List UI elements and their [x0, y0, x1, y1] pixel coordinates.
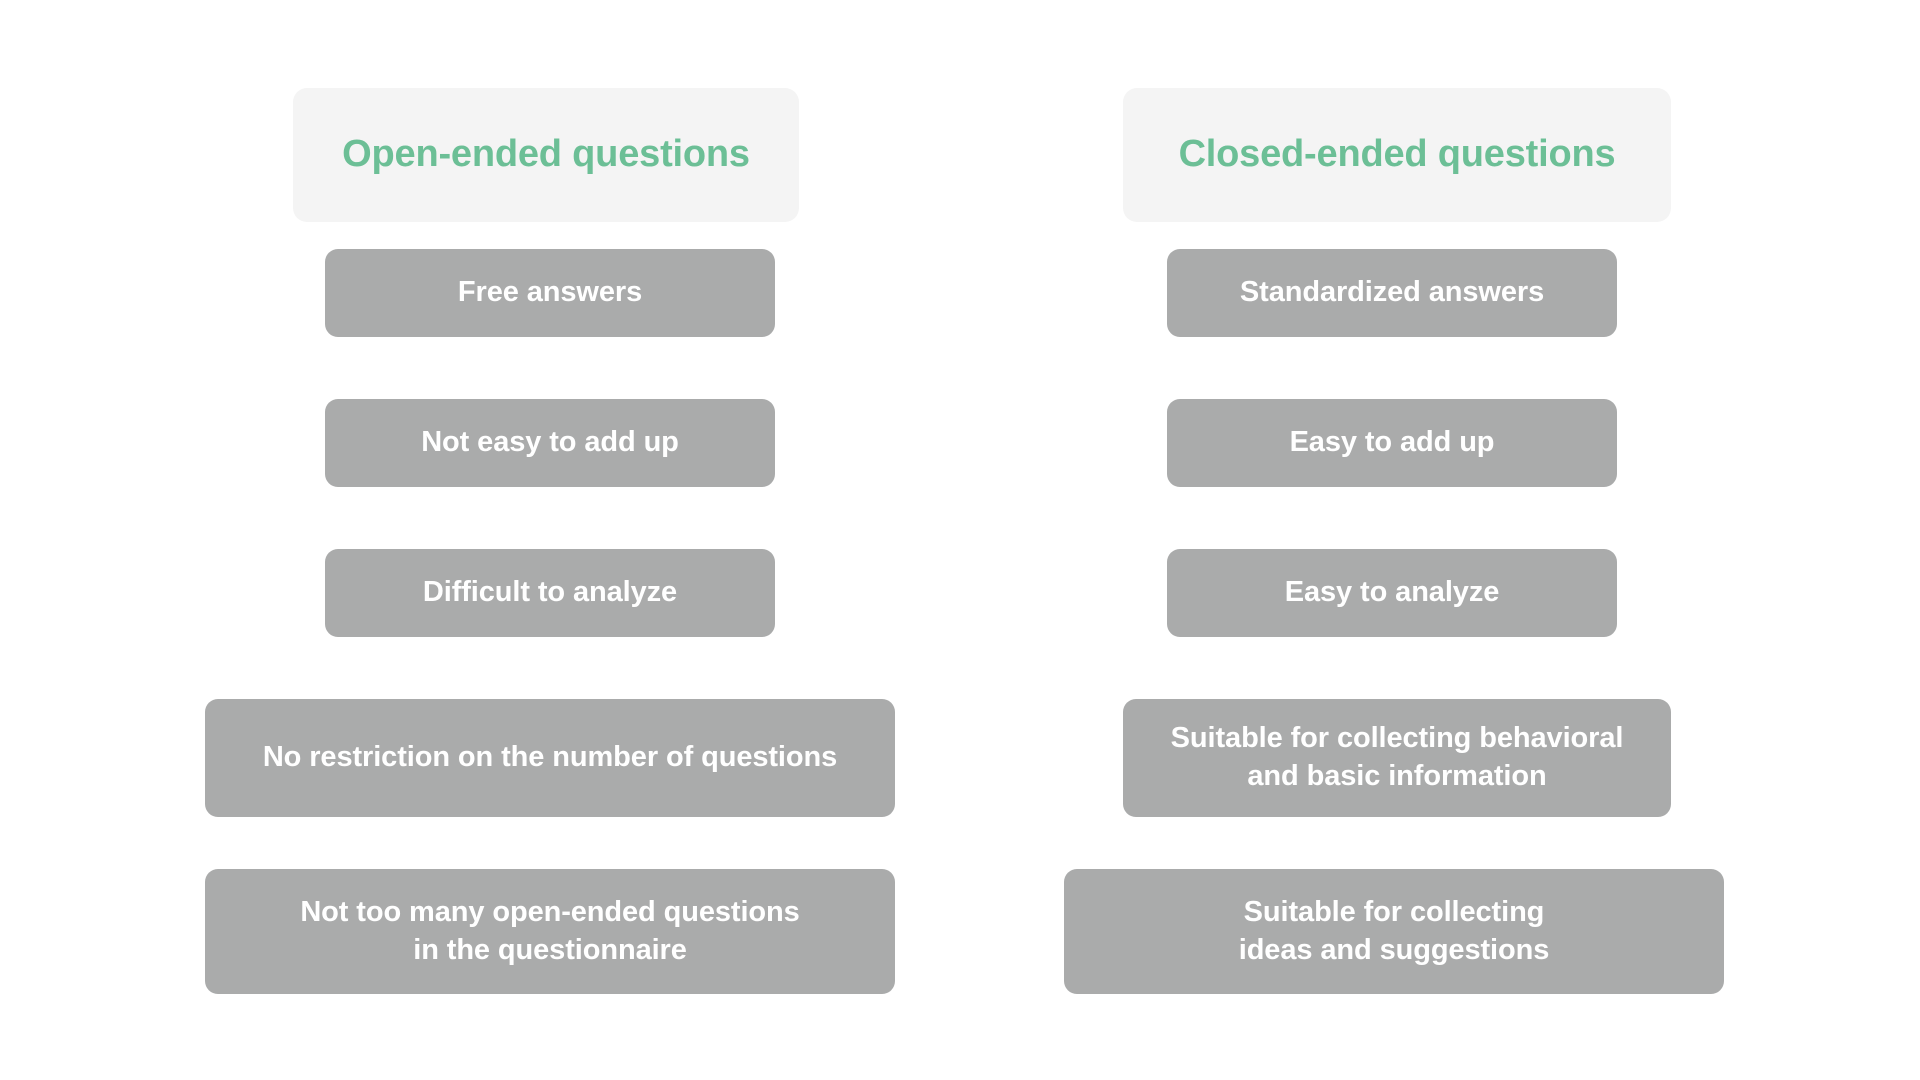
column-header-title: Open-ended questions	[342, 133, 750, 177]
attribute-pill: Free answers	[325, 249, 775, 337]
attribute-pill: Suitable for collecting behavioral and b…	[1123, 699, 1671, 817]
attribute-pill-label: Not too many open-ended questions in the…	[300, 894, 799, 969]
attribute-pill-label: Not easy to add up	[421, 424, 679, 462]
column-open-ended: Open-ended questions Free answers Not ea…	[0, 0, 960, 1080]
column-closed-ended: Closed-ended questions Standardized answ…	[960, 0, 1920, 1080]
attribute-pill-label: No restriction on the number of question…	[263, 739, 837, 777]
attribute-pill-label: Easy to add up	[1290, 424, 1495, 462]
attribute-pill: Suitable for collecting ideas and sugges…	[1064, 869, 1724, 994]
attribute-pill: Not easy to add up	[325, 399, 775, 487]
comparison-board: Open-ended questions Free answers Not ea…	[0, 0, 1920, 1080]
column-header-title: Closed-ended questions	[1179, 133, 1616, 177]
attribute-pill: Easy to analyze	[1167, 549, 1617, 637]
attribute-pill-label: Suitable for collecting behavioral and b…	[1171, 720, 1624, 795]
attribute-pill: Not too many open-ended questions in the…	[205, 869, 895, 994]
attribute-pill: Easy to add up	[1167, 399, 1617, 487]
attribute-pill: Standardized answers	[1167, 249, 1617, 337]
attribute-pill-label: Suitable for collecting ideas and sugges…	[1239, 894, 1550, 969]
attribute-pill: Difficult to analyze	[325, 549, 775, 637]
attribute-pill-label: Free answers	[458, 274, 642, 312]
column-header-closed-ended: Closed-ended questions	[1123, 88, 1671, 222]
attribute-pill-label: Easy to analyze	[1285, 574, 1500, 612]
attribute-pill-label: Difficult to analyze	[423, 574, 677, 612]
column-header-open-ended: Open-ended questions	[293, 88, 799, 222]
attribute-pill-label: Standardized answers	[1240, 274, 1544, 312]
attribute-pill: No restriction on the number of question…	[205, 699, 895, 817]
